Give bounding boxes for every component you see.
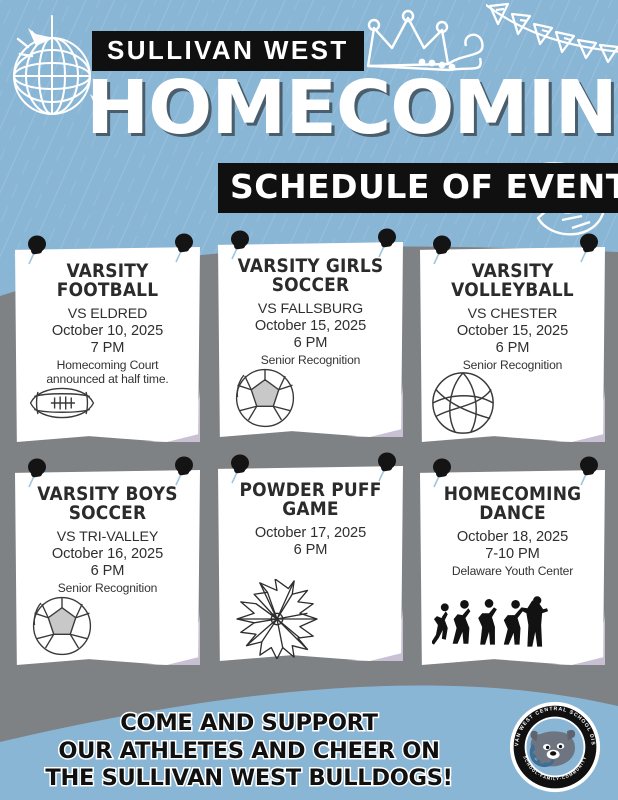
pushpin-icon xyxy=(428,458,454,488)
event-card: VARSITY BOYS SOCCER VS TRI-VALLEYOctober… xyxy=(15,470,200,665)
soccer-ball-icon xyxy=(228,365,302,431)
event-title-line-2: FOOTBALL xyxy=(31,282,185,301)
event-opponent: VS ELDRED xyxy=(24,306,191,323)
event-time: 6 PM xyxy=(227,542,394,560)
event-date: October 16, 2025 xyxy=(24,546,191,564)
event-title-line-2: DANCE xyxy=(436,505,590,524)
school-logo: SULLIVAN WEST CENTRAL SCHOOL DISTRICT SC… xyxy=(509,701,601,793)
event-time: 6 PM xyxy=(24,563,191,581)
volleyball-icon xyxy=(428,368,498,438)
event-time: 6 PM xyxy=(429,340,596,358)
footer-line-1: COME AND SUPPORT xyxy=(34,710,464,738)
soccer-ball-icon xyxy=(25,593,99,659)
event-title-line-2: SOCCER xyxy=(31,505,185,524)
pushpin-icon xyxy=(23,458,49,488)
footer-line-3: THE SULLIVAN WEST BULLDOGS! xyxy=(34,765,464,793)
event-note: Delaware Youth Center xyxy=(429,564,596,578)
event-opponent: VS FALLSBURG xyxy=(227,301,394,318)
event-date: October 10, 2025 xyxy=(24,323,191,341)
event-time: 7 PM xyxy=(24,340,191,358)
event-date: October 15, 2025 xyxy=(429,323,596,341)
event-opponent: VS TRI-VALLEY xyxy=(24,529,191,546)
poster-footer: COME AND SUPPORT OUR ATHLETES AND CHEER … xyxy=(0,690,618,800)
event-date: October 18, 2025 xyxy=(429,529,596,547)
event-title-line-2: VOLLEYBALL xyxy=(436,282,590,301)
event-card: VARSITY GIRLS SOCCER VS FALLSBURGOctober… xyxy=(218,242,403,437)
pom-pom-icon xyxy=(234,579,320,659)
poster-header: SULLIVAN WEST HOMECOMING SCHEDULE OF EVE… xyxy=(0,0,618,240)
header-subtitle: SCHEDULE OF EVENTS xyxy=(218,163,618,213)
pushpin-icon xyxy=(373,452,399,482)
event-card: VARSITY VOLLEYBALL VS CHESTEROctober 15,… xyxy=(420,247,605,442)
dancers-icon xyxy=(432,595,550,657)
event-date: October 17, 2025 xyxy=(227,525,394,543)
pushpin-icon xyxy=(170,456,196,486)
event-title-line-2: SOCCER xyxy=(234,277,388,296)
page-title: HOMECOMING xyxy=(86,78,618,139)
event-card: VARSITY FOOTBALL VS ELDREDOctober 10, 20… xyxy=(15,247,200,442)
footer-line-2: OUR ATHLETES AND CHEER ON xyxy=(34,738,464,766)
event-time: 6 PM xyxy=(227,335,394,353)
event-card: HOMECOMING DANCE October 18, 20257-10 PM… xyxy=(420,470,605,665)
football-icon xyxy=(25,370,99,436)
event-title-line-2: GAME xyxy=(234,501,388,520)
footer-message: COME AND SUPPORT OUR ATHLETES AND CHEER … xyxy=(34,710,464,793)
pushpin-icon xyxy=(575,456,601,486)
event-opponent: VS CHESTER xyxy=(429,306,596,323)
event-time: 7-10 PM xyxy=(429,546,596,564)
event-date: October 15, 2025 xyxy=(227,318,394,336)
pushpin-icon xyxy=(226,454,252,484)
event-card: POWDER PUFF GAME October 17, 20256 PM xyxy=(218,466,403,661)
